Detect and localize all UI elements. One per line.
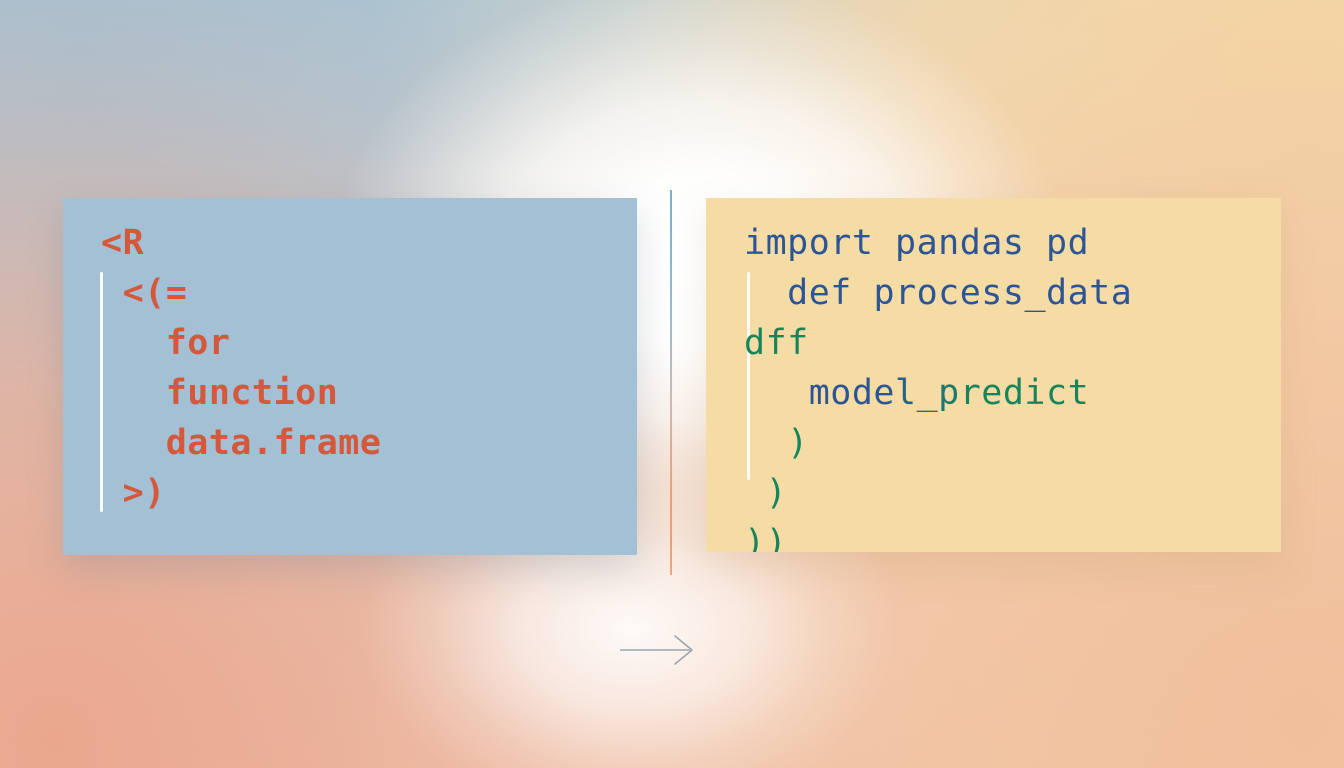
code-line: import pandas pd [706,218,1281,268]
code-line: dff [706,318,1281,368]
code-line: def process_data [706,268,1281,318]
code-token: model_predict [809,373,1089,413]
code-line: for [63,318,637,368]
code-token: import pandas pd [744,223,1089,263]
code-line: model_predict [706,368,1281,418]
code-token: def process_data [787,273,1132,313]
code-line: <(= [63,268,637,318]
code-block-right: import pandas pd def process_data dff mo… [706,198,1281,552]
code-line: )) [706,518,1281,552]
canvas: <R <(= for function data.frame >) import… [0,0,1344,768]
code-token: ) [787,423,809,463]
code-line: data.frame [63,418,637,468]
source-code-panel-right: import pandas pd def process_data dff mo… [706,198,1281,552]
code-token: )) [744,523,787,552]
code-block-left: <R <(= for function data.frame >) [63,198,637,518]
code-line: function [63,368,637,418]
code-line: ) [706,468,1281,518]
code-line: <R [63,218,637,268]
panel-divider [670,190,672,575]
code-line: ) [706,418,1281,468]
code-line: >) [63,468,637,518]
code-token: ) [766,473,788,513]
arrow-right-icon [618,630,698,670]
source-code-panel-left: <R <(= for function data.frame >) [63,198,637,555]
code-token: dff [744,323,809,363]
